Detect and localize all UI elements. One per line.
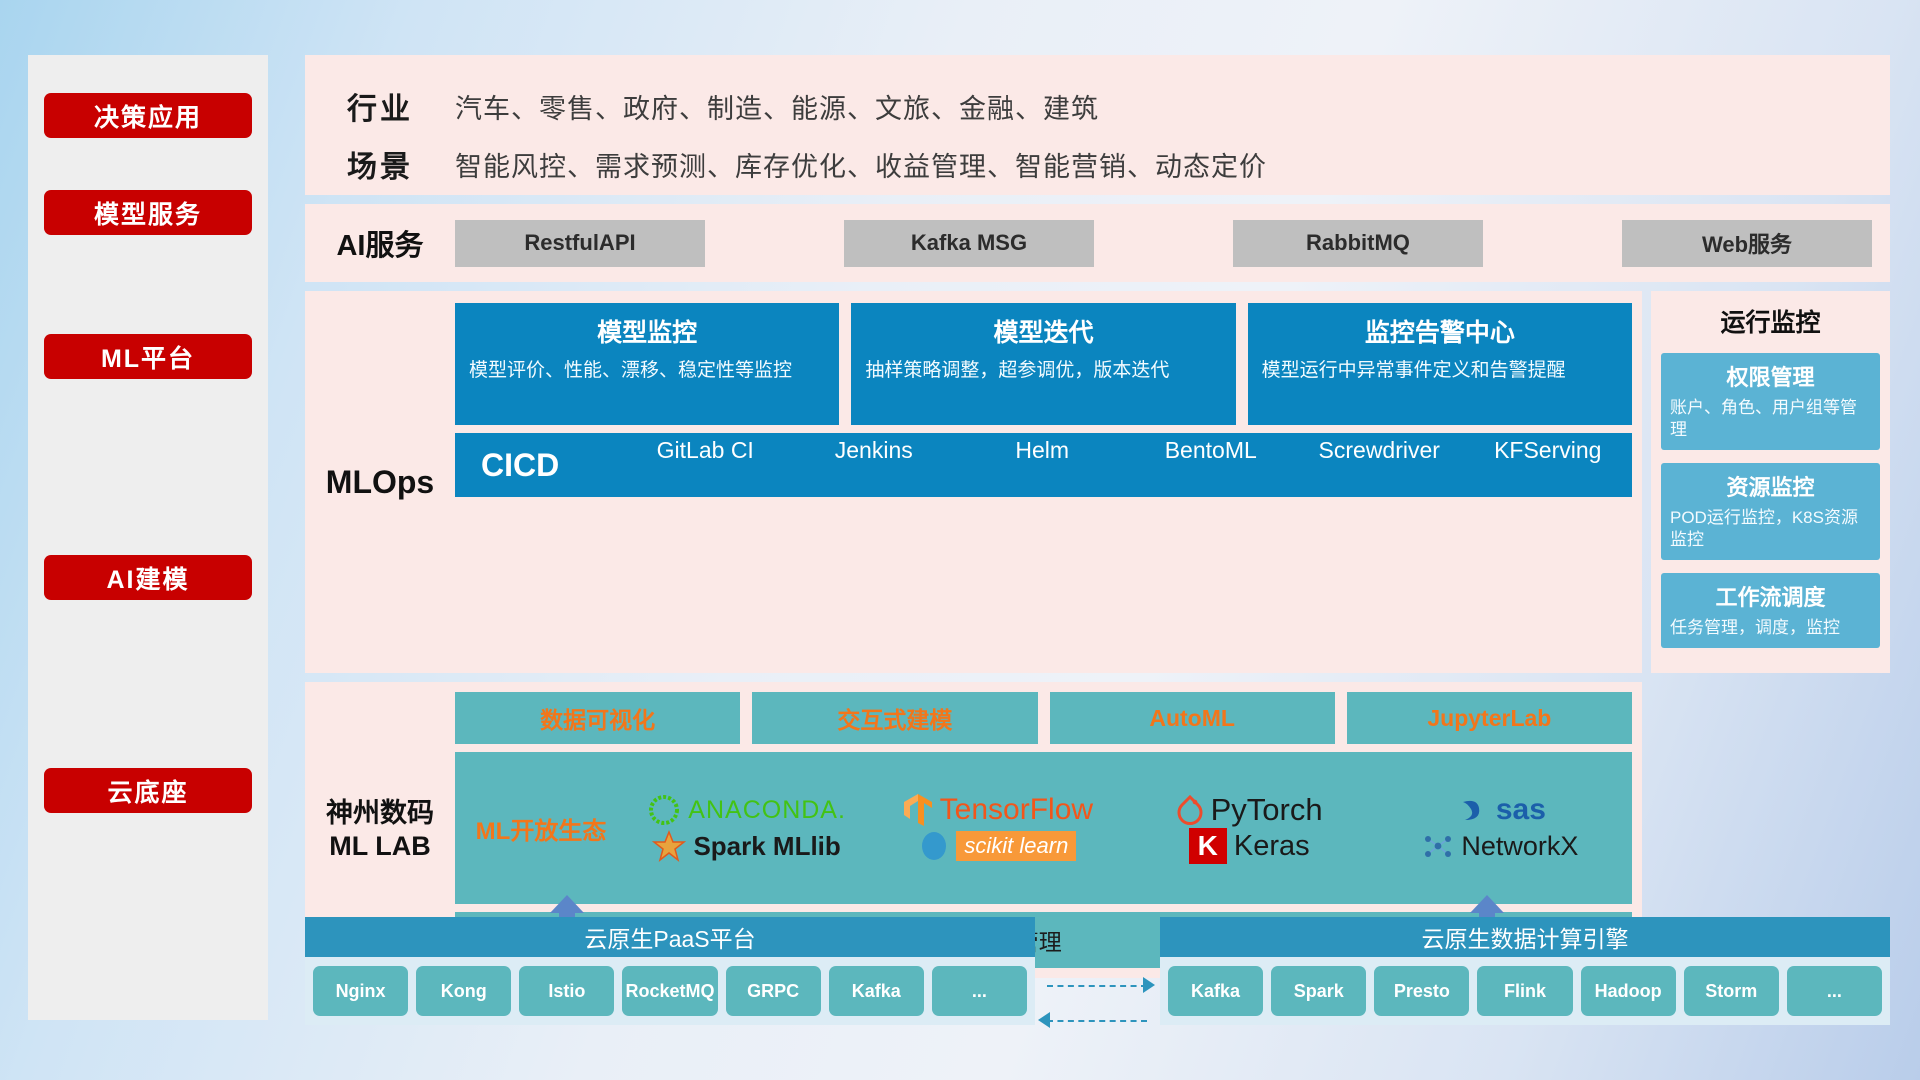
- sas-logo-text: sas: [1496, 793, 1546, 827]
- layer-rail: 决策应用 模型服务 ML平台 AI建模 云底座: [28, 55, 268, 1020]
- ml-platform-row: MLOps 模型监控 模型评价、性能、漂移、稳定性等监控 模型迭代 抽样策略调整…: [305, 291, 1890, 673]
- paas-chip-istio[interactable]: Istio: [519, 966, 614, 1016]
- sas-icon: [1455, 794, 1489, 826]
- networkx-logo-text: NetworkX: [1461, 831, 1578, 862]
- engine-title: 云原生数据计算引擎: [1160, 917, 1890, 957]
- paas-chip-more[interactable]: ...: [932, 966, 1027, 1016]
- cicd-item-bentoml[interactable]: BentoML: [1127, 436, 1296, 494]
- rail-chip-label: 模型服务: [94, 195, 202, 231]
- scikit-blob-icon: [919, 831, 949, 861]
- rail-chip-model-service[interactable]: 模型服务: [44, 190, 252, 235]
- rail-chip-label: 决策应用: [94, 98, 202, 134]
- tensorflow-logo-text: TensorFlow: [940, 793, 1093, 827]
- runtime-monitoring-band: 运行监控 权限管理 账户、角色、用户组等管理 资源监控 POD运行监控，K8S资…: [1651, 291, 1890, 673]
- engine-panel: 云原生数据计算引擎 Kafka Spark Presto Flink Hadoo…: [1160, 917, 1890, 1025]
- mlops-card-model-monitoring[interactable]: 模型监控 模型评价、性能、漂移、稳定性等监控: [455, 303, 839, 425]
- mlops-band: MLOps 模型监控 模型评价、性能、漂移、稳定性等监控 模型迭代 抽样策略调整…: [305, 291, 1642, 673]
- tool-box-data-visualization[interactable]: 数据可视化: [455, 692, 740, 744]
- service-box-rabbitmq[interactable]: RabbitMQ: [1233, 220, 1483, 267]
- paas-chip-kafka[interactable]: Kafka: [829, 966, 924, 1016]
- mon-card-title: 权限管理: [1670, 360, 1871, 392]
- mon-card-desc: POD运行监控，K8S资源监控: [1670, 507, 1871, 551]
- cicd-item-screwdriver[interactable]: Screwdriver: [1295, 436, 1464, 494]
- spark-mllib-logo-text: Spark MLlib: [693, 831, 840, 862]
- tool-box-label: JupyterLab: [1427, 705, 1551, 732]
- pytorch-logo: PyTorch: [1176, 792, 1323, 828]
- ml-ecosystem-panel: ML开放生态 ANACONDA.: [455, 752, 1632, 904]
- pytorch-logo-text: PyTorch: [1211, 792, 1323, 828]
- cloud-base-row: 云原生PaaS平台 Nginx Kong Istio RocketMQ GRPC…: [305, 895, 1890, 1047]
- service-box-web-service[interactable]: Web服务: [1622, 220, 1872, 267]
- cicd-title: CICD: [481, 447, 621, 484]
- paas-chip-grpc[interactable]: GRPC: [726, 966, 821, 1016]
- service-box-label: RabbitMQ: [1306, 230, 1410, 256]
- ml-ecosystem-logo-grid: ANACONDA. TensorFlow: [621, 792, 1626, 864]
- engine-chip-hadoop[interactable]: Hadoop: [1581, 966, 1676, 1016]
- keras-logo: K Keras: [1189, 828, 1310, 864]
- mlops-card-desc: 模型运行中异常事件定义和告警提醒: [1262, 358, 1618, 383]
- mon-card-desc: 任务管理，调度，监控: [1670, 617, 1871, 639]
- tool-box-list: 数据可视化 交互式建模 AutoML JupyterLab: [455, 692, 1632, 744]
- mon-card-desc: 账户、角色、用户组等管理: [1670, 397, 1871, 441]
- dash-link-top-arrow: [1143, 977, 1155, 993]
- cicd-item-helm[interactable]: Helm: [958, 436, 1127, 494]
- keras-k-icon: K: [1189, 828, 1227, 864]
- rail-chip-decision-apps[interactable]: 决策应用: [44, 93, 252, 138]
- sas-logo: sas: [1455, 793, 1546, 827]
- mon-card-permission[interactable]: 权限管理 账户、角色、用户组等管理: [1661, 353, 1880, 450]
- rail-chip-label: AI建模: [106, 560, 189, 596]
- ai-service-label: AI服务: [305, 222, 455, 264]
- ml-ecosystem-label: ML开放生态: [461, 811, 621, 846]
- mon-card-resource[interactable]: 资源监控 POD运行监控，K8S资源监控: [1661, 463, 1880, 560]
- scenario-label: 场景: [305, 142, 455, 186]
- dash-link-bottom-arrow: [1038, 1012, 1050, 1028]
- ml-lab-label-line2: ML LAB: [305, 830, 455, 864]
- engine-chip-list: Kafka Spark Presto Flink Hadoop Storm ..…: [1160, 957, 1890, 1025]
- networkx-graph-icon: [1422, 831, 1454, 861]
- mlops-card-list: 模型监控 模型评价、性能、漂移、稳定性等监控 模型迭代 抽样策略调整，超参调优，…: [455, 303, 1632, 425]
- scikit-learn-logo: scikit learn: [919, 831, 1076, 861]
- tool-box-automl[interactable]: AutoML: [1050, 692, 1335, 744]
- ai-service-box-list: RestfulAPI Kafka MSG RabbitMQ Web服务: [455, 220, 1890, 267]
- scenario-value: 智能风控、需求预测、库存优化、收益管理、智能营销、动态定价: [455, 145, 1267, 184]
- mlops-card-desc: 抽样策略调整，超参调优，版本迭代: [865, 358, 1221, 383]
- rail-chip-cloud-base[interactable]: 云底座: [44, 768, 252, 813]
- mlops-card-model-iteration[interactable]: 模型迭代 抽样策略调整，超参调优，版本迭代: [851, 303, 1235, 425]
- cicd-item-gitlab-ci[interactable]: GitLab CI: [621, 436, 790, 494]
- mlops-content: 模型监控 模型评价、性能、漂移、稳定性等监控 模型迭代 抽样策略调整，超参调优，…: [455, 303, 1642, 661]
- cicd-bar: CICD GitLab CI Jenkins Helm BentoML Scre…: [455, 433, 1632, 497]
- paas-chip-rocketmq[interactable]: RocketMQ: [622, 966, 717, 1016]
- runtime-monitoring-title: 运行监控: [1661, 303, 1880, 339]
- ai-service-band: AI服务 RestfulAPI Kafka MSG RabbitMQ Web服务: [305, 204, 1890, 282]
- dash-link-bottom: [1047, 1020, 1147, 1022]
- paas-chip-kong[interactable]: Kong: [416, 966, 511, 1016]
- service-box-label: Web服务: [1702, 227, 1792, 259]
- ml-lab-label: 神州数码 ML LAB: [305, 797, 455, 865]
- tool-box-interactive-modeling[interactable]: 交互式建模: [752, 692, 1037, 744]
- paas-title: 云原生PaaS平台: [305, 917, 1035, 957]
- industry-row: 行业 汽车、零售、政府、制造、能源、文旅、金融、建筑: [305, 77, 1890, 135]
- tool-box-label: 数据可视化: [540, 701, 655, 735]
- rail-chip-label: ML平台: [101, 339, 195, 375]
- pytorch-icon: [1176, 794, 1204, 826]
- tensorflow-logo: TensorFlow: [903, 792, 1093, 828]
- cicd-item-list: GitLab CI Jenkins Helm BentoML Screwdriv…: [621, 436, 1632, 494]
- rail-chip-label: 云底座: [107, 773, 188, 809]
- dash-link-top: [1047, 985, 1147, 987]
- service-box-label: RestfulAPI: [524, 230, 635, 256]
- scikit-learn-logo-text: scikit learn: [956, 831, 1076, 861]
- ml-lab-label-line1: 神州数码: [305, 797, 455, 831]
- decision-apps-band: 行业 汽车、零售、政府、制造、能源、文旅、金融、建筑 场景 智能风控、需求预测、…: [305, 55, 1890, 195]
- service-box-kafka-msg[interactable]: Kafka MSG: [844, 220, 1094, 267]
- mlops-card-title: 模型迭代: [865, 313, 1221, 349]
- paas-chip-list: Nginx Kong Istio RocketMQ GRPC Kafka ...: [305, 957, 1035, 1025]
- paas-chip-nginx[interactable]: Nginx: [313, 966, 408, 1016]
- service-box-label: Kafka MSG: [911, 230, 1027, 256]
- spark-mllib-logo: Spark MLlib: [652, 830, 840, 862]
- paas-panel: 云原生PaaS平台 Nginx Kong Istio RocketMQ GRPC…: [305, 917, 1035, 1025]
- service-box-restfulapi[interactable]: RestfulAPI: [455, 220, 705, 267]
- tensorflow-icon: [903, 792, 933, 828]
- mon-card-title: 工作流调度: [1670, 580, 1871, 612]
- mlops-card-title: 模型监控: [469, 313, 825, 349]
- engine-chip-storm[interactable]: Storm: [1684, 966, 1779, 1016]
- engine-chip-more[interactable]: ...: [1787, 966, 1882, 1016]
- engine-chip-presto[interactable]: Presto: [1374, 966, 1469, 1016]
- networkx-logo: NetworkX: [1422, 831, 1578, 862]
- industry-label: 行业: [305, 84, 455, 128]
- anaconda-logo: ANACONDA.: [647, 793, 846, 827]
- mlops-label: MLOps: [305, 303, 455, 661]
- anaconda-logo-text: ANACONDA.: [688, 796, 846, 825]
- cicd-item-kfserving[interactable]: KFServing: [1464, 436, 1633, 494]
- mon-card-workflow[interactable]: 工作流调度 任务管理，调度，监控: [1661, 573, 1880, 648]
- spark-star-icon: [652, 830, 686, 862]
- scenario-row: 场景 智能风控、需求预测、库存优化、收益管理、智能营销、动态定价: [305, 135, 1890, 193]
- engine-chip-kafka[interactable]: Kafka: [1168, 966, 1263, 1016]
- tool-box-label: AutoML: [1149, 705, 1235, 732]
- rail-chip-ml-platform[interactable]: ML平台: [44, 334, 252, 379]
- tool-box-jupyterlab[interactable]: JupyterLab: [1347, 692, 1632, 744]
- anaconda-icon: [647, 793, 681, 827]
- mlops-card-desc: 模型评价、性能、漂移、稳定性等监控: [469, 358, 825, 383]
- cicd-item-jenkins[interactable]: Jenkins: [790, 436, 959, 494]
- mon-card-title: 资源监控: [1670, 470, 1871, 502]
- engine-chip-flink[interactable]: Flink: [1477, 966, 1572, 1016]
- tool-box-label: 交互式建模: [837, 701, 952, 735]
- industry-value: 汽车、零售、政府、制造、能源、文旅、金融、建筑: [455, 87, 1099, 126]
- mlops-card-title: 监控告警中心: [1262, 313, 1618, 349]
- mlops-card-alert-center[interactable]: 监控告警中心 模型运行中异常事件定义和告警提醒: [1248, 303, 1632, 425]
- rail-chip-ai-modeling[interactable]: AI建模: [44, 555, 252, 600]
- engine-chip-spark[interactable]: Spark: [1271, 966, 1366, 1016]
- keras-logo-text: Keras: [1234, 830, 1310, 863]
- main-column: 行业 汽车、零售、政府、制造、能源、文旅、金融、建筑 场景 智能风控、需求预测、…: [305, 55, 1890, 978]
